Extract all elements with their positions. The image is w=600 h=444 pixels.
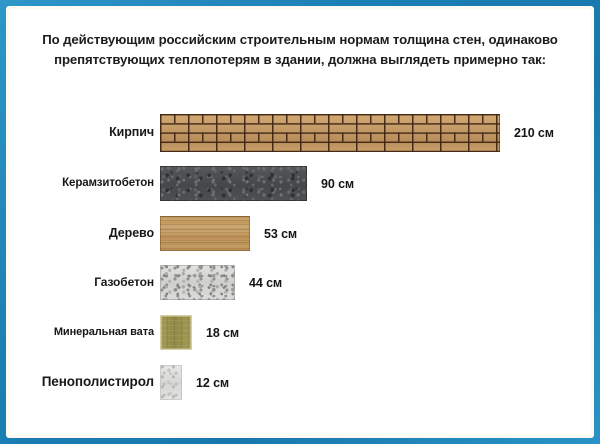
- material-bar-polystyrene: [160, 365, 182, 400]
- bar-value-label: 44 см: [249, 275, 282, 291]
- chart-row: Кирпич210 см: [9, 114, 591, 152]
- bar-category-label: Кирпич: [9, 125, 154, 141]
- material-bar-dark-concrete: [160, 166, 307, 201]
- chart-row: Газобетон44 см: [9, 265, 591, 300]
- bar-value-label: 210 см: [514, 125, 554, 141]
- bar-value-label: 90 см: [321, 176, 354, 192]
- chart-row: Дерево53 см: [9, 216, 591, 251]
- material-bar-mineral-wool: [160, 315, 192, 350]
- material-bar-wood: [160, 216, 250, 251]
- bar-category-label: Минеральная вата: [9, 326, 154, 340]
- infographic-panel: По действующим российским строительным н…: [9, 9, 591, 435]
- bar-value-label: 12 см: [196, 375, 229, 391]
- material-bar-brick: [160, 114, 500, 152]
- infographic-frame: По действующим российским строительным н…: [0, 0, 600, 444]
- bar-category-label: Дерево: [9, 226, 154, 242]
- bar-category-label: Газобетон: [9, 275, 154, 290]
- chart-row: Минеральная вата18 см: [9, 315, 591, 350]
- bar-value-label: 18 см: [206, 325, 239, 341]
- bar-value-label: 53 см: [264, 226, 297, 242]
- material-bar-aerated-concrete: [160, 265, 235, 300]
- wall-thickness-bar-chart: Кирпич210 смКерамзитобетон90 смДерево53 …: [9, 9, 591, 435]
- chart-row: Керамзитобетон90 см: [9, 166, 591, 201]
- chart-row: Пенополистирол12 см: [9, 365, 591, 400]
- bar-category-label: Керамзитобетон: [9, 176, 154, 190]
- bar-category-label: Пенополистирол: [9, 374, 154, 391]
